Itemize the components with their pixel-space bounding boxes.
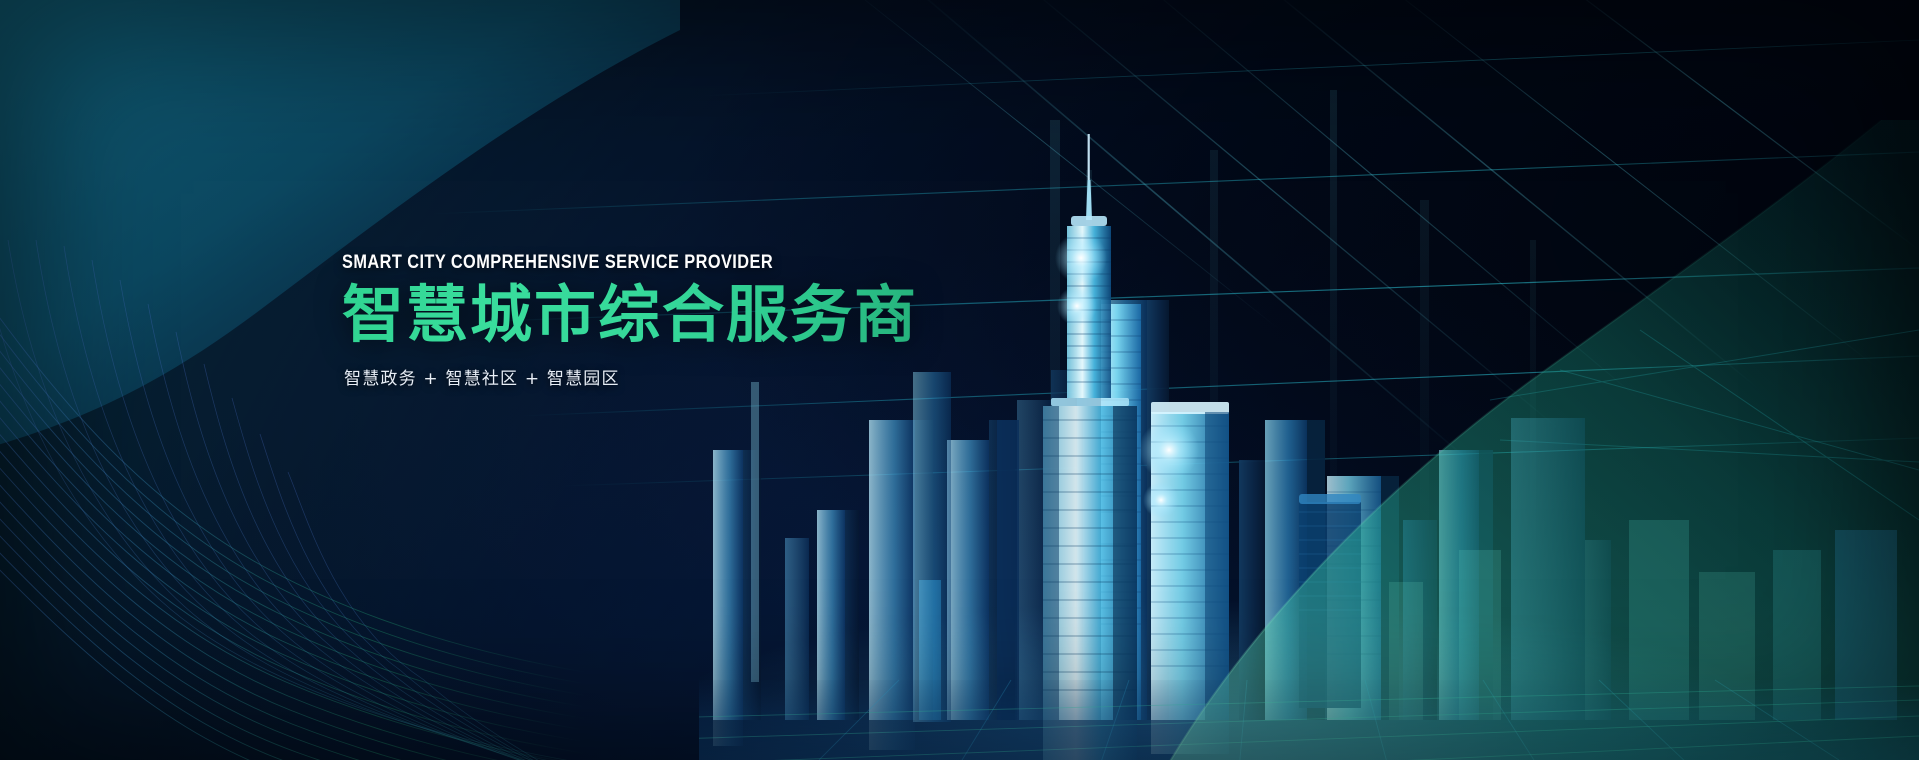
eyebrow-tagline: SMART CITY COMPREHENSIVE SERVICE PROVIDE…: [342, 252, 996, 274]
page-title: 智慧城市综合服务商: [342, 282, 1102, 348]
hero-copy-block: SMART CITY COMPREHENSIVE SERVICE PROVIDE…: [342, 252, 1102, 389]
hero-banner: SMART CITY COMPREHENSIVE SERVICE PROVIDE…: [0, 0, 1919, 760]
green-diagonal-overlay: [1169, 120, 1919, 760]
central-spire-tower: [1043, 134, 1137, 720]
subtitle-services: 智慧政务 + 智慧社区 + 智慧园区: [344, 364, 1102, 389]
